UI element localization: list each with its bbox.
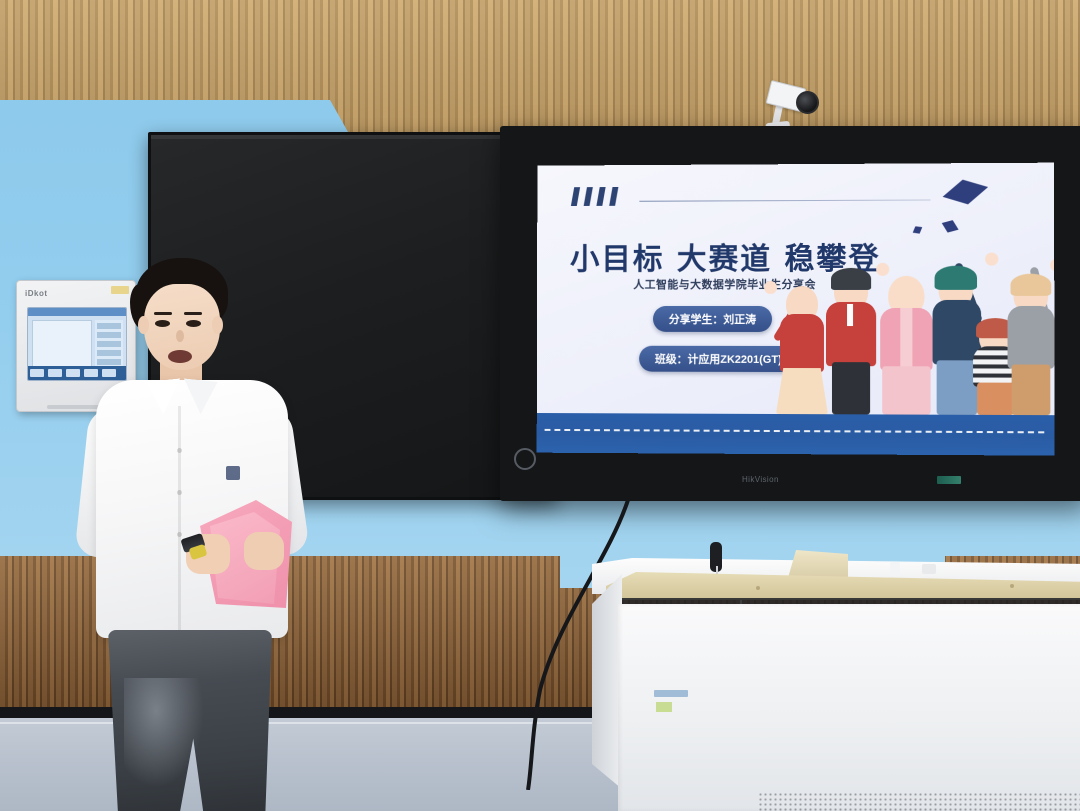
display-brand-label: HikVision — [742, 475, 814, 486]
power-indicator-icon[interactable] — [514, 448, 536, 470]
display-screen[interactable]: 小目标 大赛道 稳攀登 人工智能与大数据学院毕业生分享会 分享学生：刘正涛 班级… — [537, 163, 1055, 456]
graduation-cap-icon — [940, 175, 992, 214]
small-object-item — [890, 562, 900, 576]
camera-lens-icon — [796, 91, 819, 114]
mouth — [168, 350, 192, 363]
celebrating-students-illustration — [766, 231, 1050, 415]
shirt-placket — [178, 406, 181, 636]
blackboard-highlight — [151, 135, 554, 139]
eyebrow — [184, 312, 202, 315]
eyebrow — [154, 312, 172, 315]
shirt-logo-icon — [226, 466, 240, 480]
classroom-scene: iDkot — [0, 0, 1080, 811]
green-led-indicator — [937, 476, 961, 484]
jeans-fade — [124, 678, 204, 788]
lectern-sticker-icon — [656, 702, 672, 712]
presenting-student — [78, 258, 313, 811]
beige-box-item — [788, 550, 848, 578]
lectern-front-panel — [618, 604, 1080, 811]
panel-brand-label: iDkot — [25, 289, 48, 298]
eye — [155, 320, 170, 327]
slide-footer-dashline — [545, 429, 1045, 433]
presenter-badge: 分享学生：刘正涛 — [653, 306, 772, 332]
slide-rule-divider — [639, 199, 930, 201]
ear — [138, 316, 149, 334]
lectern — [592, 558, 1080, 811]
presentation-slide: 小目标 大赛道 稳攀登 人工智能与大数据学院毕业生分享会 分享学生：刘正涛 班级… — [537, 163, 1055, 456]
ear — [212, 316, 223, 334]
small-object-item — [922, 564, 936, 574]
right-hand — [244, 532, 284, 570]
interactive-display[interactable]: 小目标 大赛道 稳攀登 人工智能与大数据学院毕业生分享会 分享学生：刘正涛 班级… — [500, 126, 1080, 501]
eye — [186, 320, 201, 327]
nose — [176, 330, 184, 342]
slide-footer-band — [537, 413, 1055, 456]
lectern-logo-icon — [654, 690, 688, 697]
four-slanted-bars-icon — [573, 187, 617, 206]
lectern-vent-grille — [758, 792, 1080, 811]
student-figure — [1003, 249, 1054, 415]
